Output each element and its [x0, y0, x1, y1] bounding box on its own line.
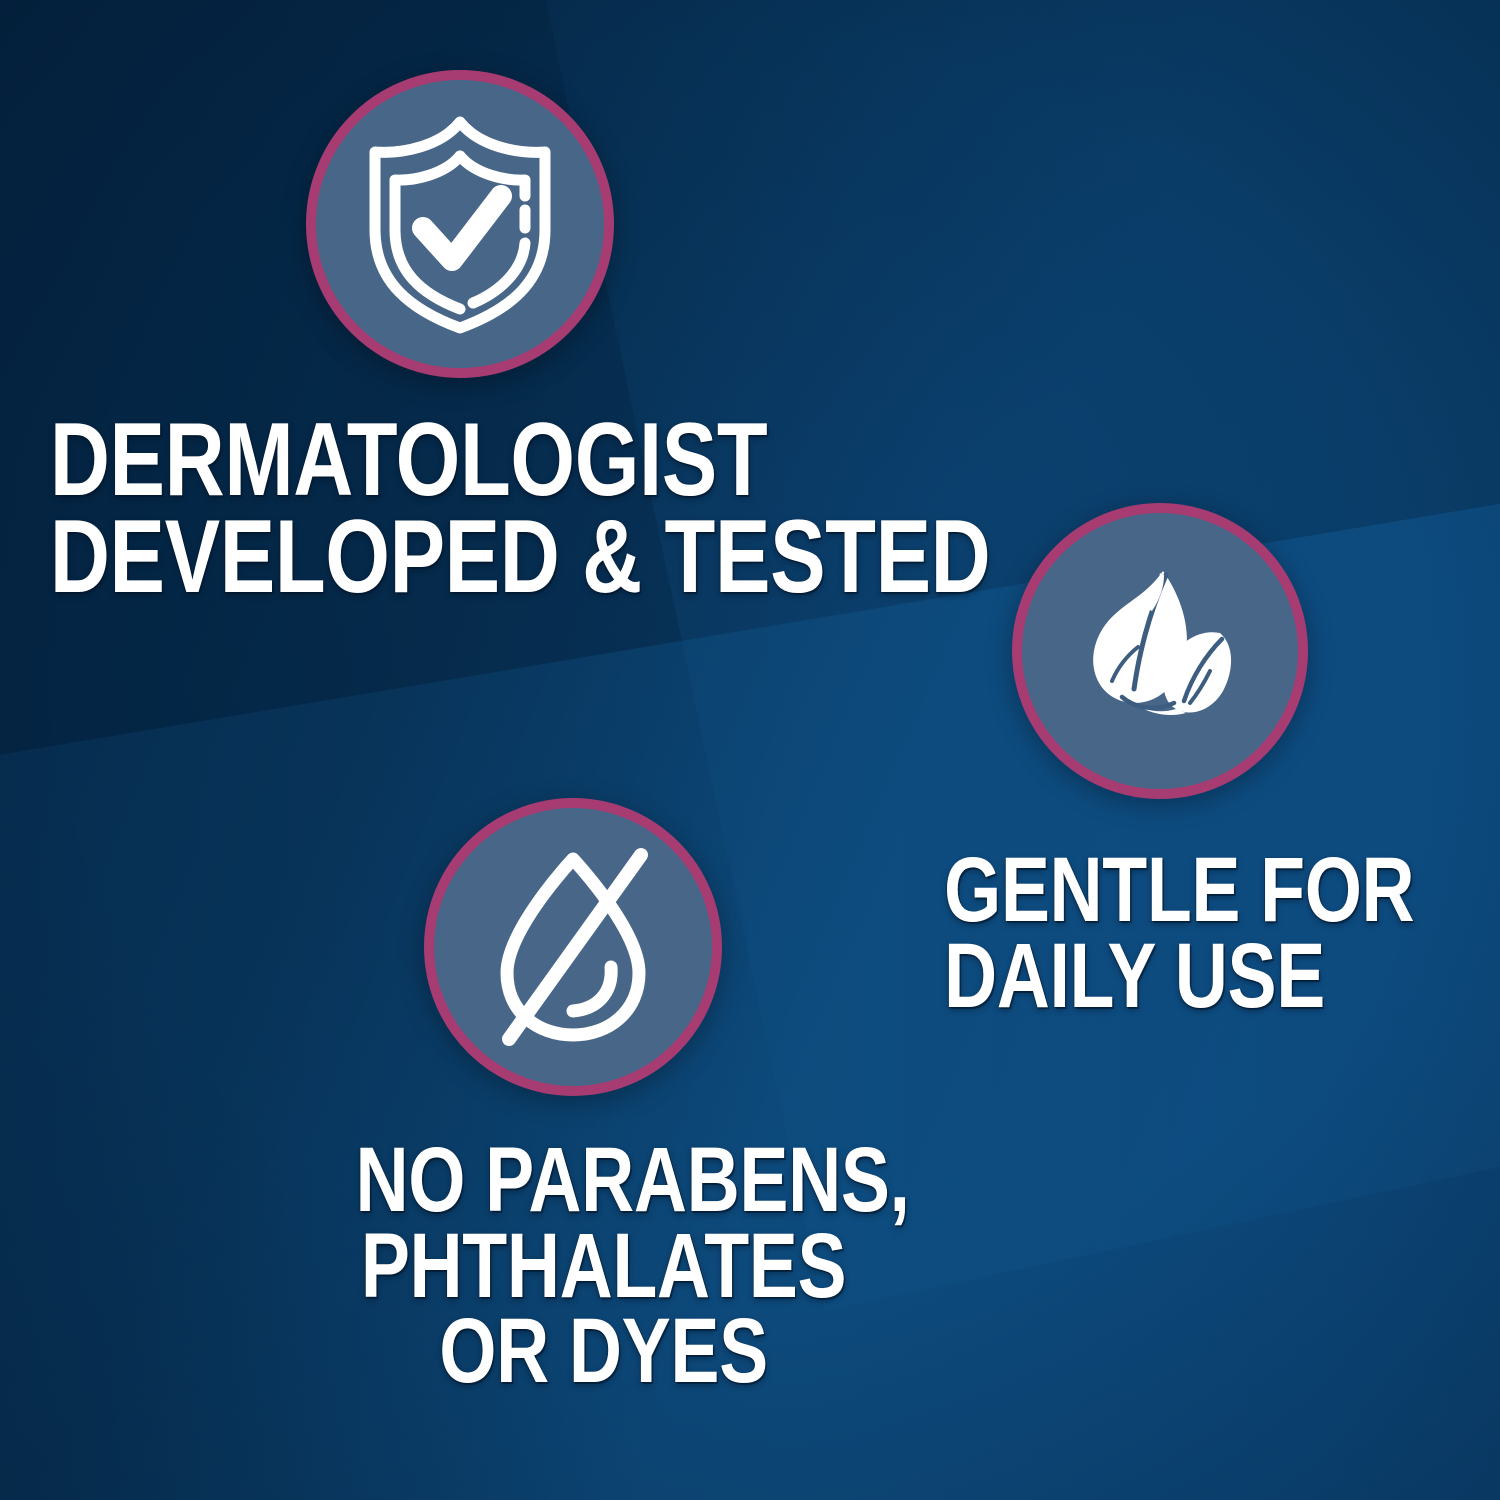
product-claims-graphic: DERMATOLOGIST DEVELOPED & TESTED GENTLE … [0, 0, 1500, 1500]
claim-dermatologist-line-1: DERMATOLOGIST [50, 412, 991, 509]
badge-dermatologist [306, 70, 614, 378]
claim-gentle-line-1: GENTLE FOR [944, 848, 1414, 934]
claim-dermatologist-line-2: DEVELOPED & TESTED [50, 509, 991, 606]
claim-no-parabens-line-3: OR DYES [356, 1309, 852, 1395]
shield-check-icon [355, 110, 565, 338]
claim-no-parabens-line-1: NO PARABENS, [356, 1138, 852, 1224]
droplet-slash-icon [473, 843, 673, 1051]
claim-gentle: GENTLE FOR DAILY USE [944, 848, 1414, 1019]
badge-no-parabens [424, 798, 722, 1096]
claim-gentle-line-2: DAILY USE [944, 934, 1414, 1020]
claim-dermatologist: DERMATOLOGIST DEVELOPED & TESTED [50, 412, 991, 605]
feathers-icon [1060, 551, 1260, 751]
claim-no-parabens-line-2: PHTHALATES [356, 1224, 852, 1310]
claim-no-parabens: NO PARABENS, PHTHALATES OR DYES [356, 1138, 852, 1395]
badge-gentle [1012, 503, 1308, 799]
